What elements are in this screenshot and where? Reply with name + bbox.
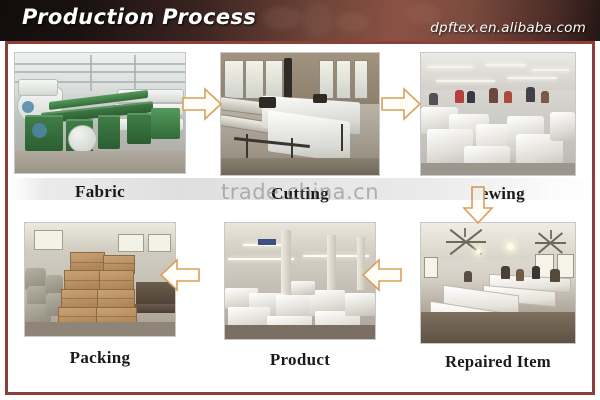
photo-fabric xyxy=(14,52,186,174)
process-step-sewing: Sewing xyxy=(408,52,588,217)
process-step-packing: Packing xyxy=(10,222,190,387)
photo-repaired-item xyxy=(420,222,576,344)
photo-packing xyxy=(24,222,176,337)
photo-product xyxy=(224,222,376,340)
caption-packing: Packing xyxy=(10,348,190,368)
process-step-fabric: Fabric xyxy=(10,52,190,217)
caption-cutting: Cutting xyxy=(210,184,390,204)
header-banner: Production Process dpftex.en.alibaba.com xyxy=(0,0,600,41)
caption-product: Product xyxy=(210,350,390,370)
caption-sewing: Sewing xyxy=(408,184,588,204)
page-title: Production Process xyxy=(22,5,256,29)
production-process-poster: Production Process dpftex.en.alibaba.com xyxy=(0,0,600,400)
arrow-left-repaired-item-to-product xyxy=(362,258,402,292)
arrow-down-sewing-to-repaired-item xyxy=(462,186,494,224)
arrow-right-cutting-to-sewing xyxy=(381,87,421,121)
photo-cutting xyxy=(220,52,380,176)
process-step-repaired-item: Repaired Item xyxy=(408,222,588,387)
process-flow-grid: Fabric xyxy=(8,44,592,392)
process-step-cutting: Cutting xyxy=(210,52,390,217)
arrow-left-product-to-packing xyxy=(160,258,200,292)
caption-fabric: Fabric xyxy=(10,182,190,202)
arrow-right-fabric-to-cutting xyxy=(182,87,222,121)
photo-sewing xyxy=(420,52,576,176)
process-step-product: Product xyxy=(210,222,390,387)
supplier-website-url: dpftex.en.alibaba.com xyxy=(430,20,586,36)
caption-repaired-item: Repaired Item xyxy=(408,352,588,372)
